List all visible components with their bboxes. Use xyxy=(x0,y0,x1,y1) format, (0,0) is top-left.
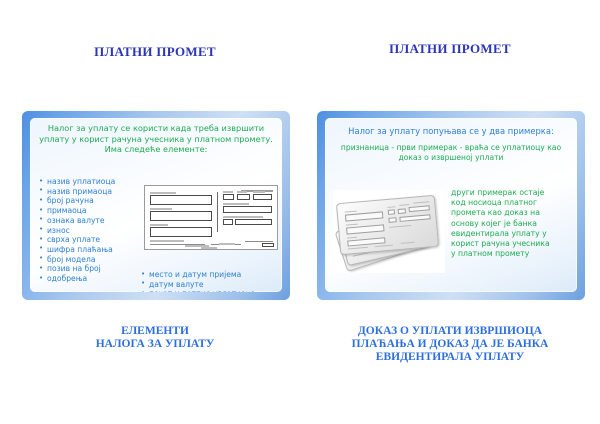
list-item: датум валуте xyxy=(140,280,275,290)
right-slide-heading: Налог за уплату попуњава се у два пример… xyxy=(325,118,577,137)
list-item: број рачуна xyxy=(38,196,135,206)
list-item: шифра плаћања xyxy=(38,245,135,255)
caption-line: ДОКАЗ О УПЛАТИ ИЗВРШИОЦА xyxy=(315,325,585,338)
right-slide-caption: ДОКАЗ О УПЛАТИ ИЗВРШИОЦА ПЛАЋАЊА И ДОКАЗ… xyxy=(315,325,585,364)
right-slide[interactable]: Налог за уплату попуњава се у два пример… xyxy=(317,111,585,300)
caption-line: НАЛОГА ЗА УПЛАТУ xyxy=(20,338,290,351)
right-slide-inner: Налог за уплату попуњава се у два пример… xyxy=(325,118,577,292)
list-item: место и датум пријема xyxy=(140,270,275,280)
list-item: назив примаоца xyxy=(38,187,135,197)
list-item: сврха уплате xyxy=(38,235,135,245)
list-item-continuation: одобрења xyxy=(38,274,135,284)
payment-slip-front xyxy=(336,195,439,255)
list-item: позив на број xyxy=(38,264,135,274)
elements-bullet-list-primary: назив уплатиоца назив примаоца број рачу… xyxy=(38,177,135,284)
list-item: печат и потпис уплатиоца xyxy=(140,289,275,292)
caption-line: ПЛАЋАЊА И ДОКАЗ ДА ЈЕ БАНКА xyxy=(315,338,585,351)
left-slide-inner: Налог за уплату се користи када треба из… xyxy=(30,118,282,292)
caption-line: ЕВИДЕНТИРАЛА УПЛАТУ xyxy=(315,351,585,364)
list-item: назив уплатиоца xyxy=(38,177,135,187)
left-slide-title: ПЛАТНИ ПРОМЕТ xyxy=(20,44,290,60)
left-slide[interactable]: Налог за уплату се користи када треба из… xyxy=(22,111,290,300)
payment-order-form-image xyxy=(144,185,278,250)
left-slide-caption: ЕЛЕМЕНТИ НАЛОГА ЗА УПЛАТУ xyxy=(20,325,290,351)
elements-bullet-list-secondary: место и датум пријема датум валуте печат… xyxy=(140,270,275,292)
list-item: број модела xyxy=(38,255,135,265)
list-item-continuation: примаоца xyxy=(38,206,135,216)
caption-line: ЕЛЕМЕНТИ xyxy=(20,325,290,338)
right-slide-title: ПЛАТНИ ПРОМЕТ xyxy=(315,41,585,57)
left-slide-content: назив уплатиоца назив примаоца број рачу… xyxy=(36,177,277,288)
left-slide-heading: Налог за уплату се користи када треба из… xyxy=(30,118,282,155)
list-item: ознака валуте xyxy=(38,216,135,226)
list-item: износ xyxy=(38,226,135,236)
two-payment-slips-image xyxy=(333,190,445,273)
right-slide-subheading: признаница - први примерак - враћа се уп… xyxy=(325,137,577,163)
right-slide-body: други примерак остаје код носиоца платно… xyxy=(451,188,555,259)
